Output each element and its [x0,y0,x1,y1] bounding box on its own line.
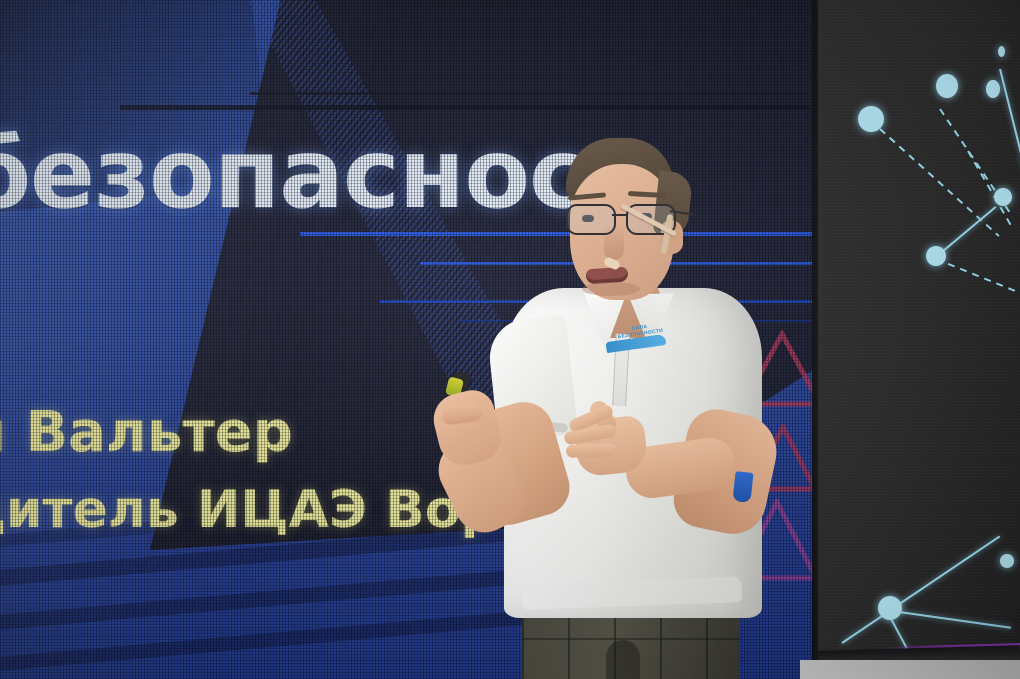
network-node [994,188,1012,206]
screen-glitch-line [250,92,810,95]
dark-wall-panel [818,0,1020,660]
shirt-logo: СИЛА БЕЗОПАСНОСТИ [606,324,668,354]
slide-speaker-name: я Вальтер [0,400,293,465]
hand-right-finger [566,443,616,458]
panel-texture [818,0,1020,660]
network-node [986,80,1000,98]
glasses-bridge [612,214,628,216]
network-node [926,246,946,266]
network-node [936,74,958,98]
network-node [998,46,1005,57]
network-node [858,106,884,132]
network-node [1000,554,1014,568]
floor [800,660,1020,679]
screen-glitch-line [120,105,810,110]
chin-shadow [582,282,640,296]
trousers-shadow [606,640,640,679]
glasses-lens-left [566,204,616,235]
screenshot-root: безопасност я Вальтер дитель ИЦАЭ Вор [0,0,1020,679]
network-node [878,596,902,620]
presenter: СИЛА БЕЗОПАСНОСТИ [418,120,788,679]
